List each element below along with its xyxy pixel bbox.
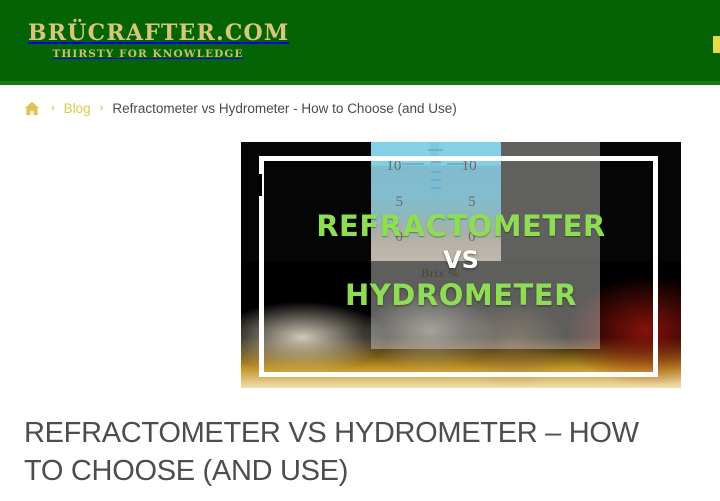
- home-icon[interactable]: [24, 101, 40, 116]
- image-frame-notch: [257, 174, 262, 196]
- featured-image-canvas: 10 10 5 5 0 0 Brix % REFRACTOMETER VS HY…: [241, 142, 681, 388]
- breadcrumb-separator-1: ›: [51, 103, 55, 114]
- site-header: BRÜCRAFTER.COM THIRSTY FOR KNOWLEDGE: [0, 0, 720, 85]
- logo-tagline: THIRSTY FOR KNOWLEDGE: [28, 49, 268, 60]
- breadcrumb: › Blog › Refractometer vs Hydrometer - H…: [0, 85, 720, 132]
- breadcrumb-separator-2: ›: [100, 103, 104, 114]
- menu-toggle-edge[interactable]: [713, 36, 720, 53]
- breadcrumb-item-blog[interactable]: Blog: [64, 101, 91, 116]
- image-white-frame: [259, 156, 658, 377]
- page-title: REFRACTOMETER VS HYDROMETER – HOW TO CHO…: [24, 414, 684, 491]
- logo-title: BRÜCRAFTER.COM: [28, 22, 268, 45]
- featured-image[interactable]: 10 10 5 5 0 0 Brix % REFRACTOMETER VS HY…: [241, 142, 681, 388]
- page-root: BRÜCRAFTER.COM THIRSTY FOR KNOWLEDGE › B…: [0, 0, 720, 501]
- site-logo[interactable]: BRÜCRAFTER.COM THIRSTY FOR KNOWLEDGE: [28, 22, 268, 60]
- breadcrumb-current-page: Refractometer vs Hydrometer - How to Cho…: [112, 101, 456, 116]
